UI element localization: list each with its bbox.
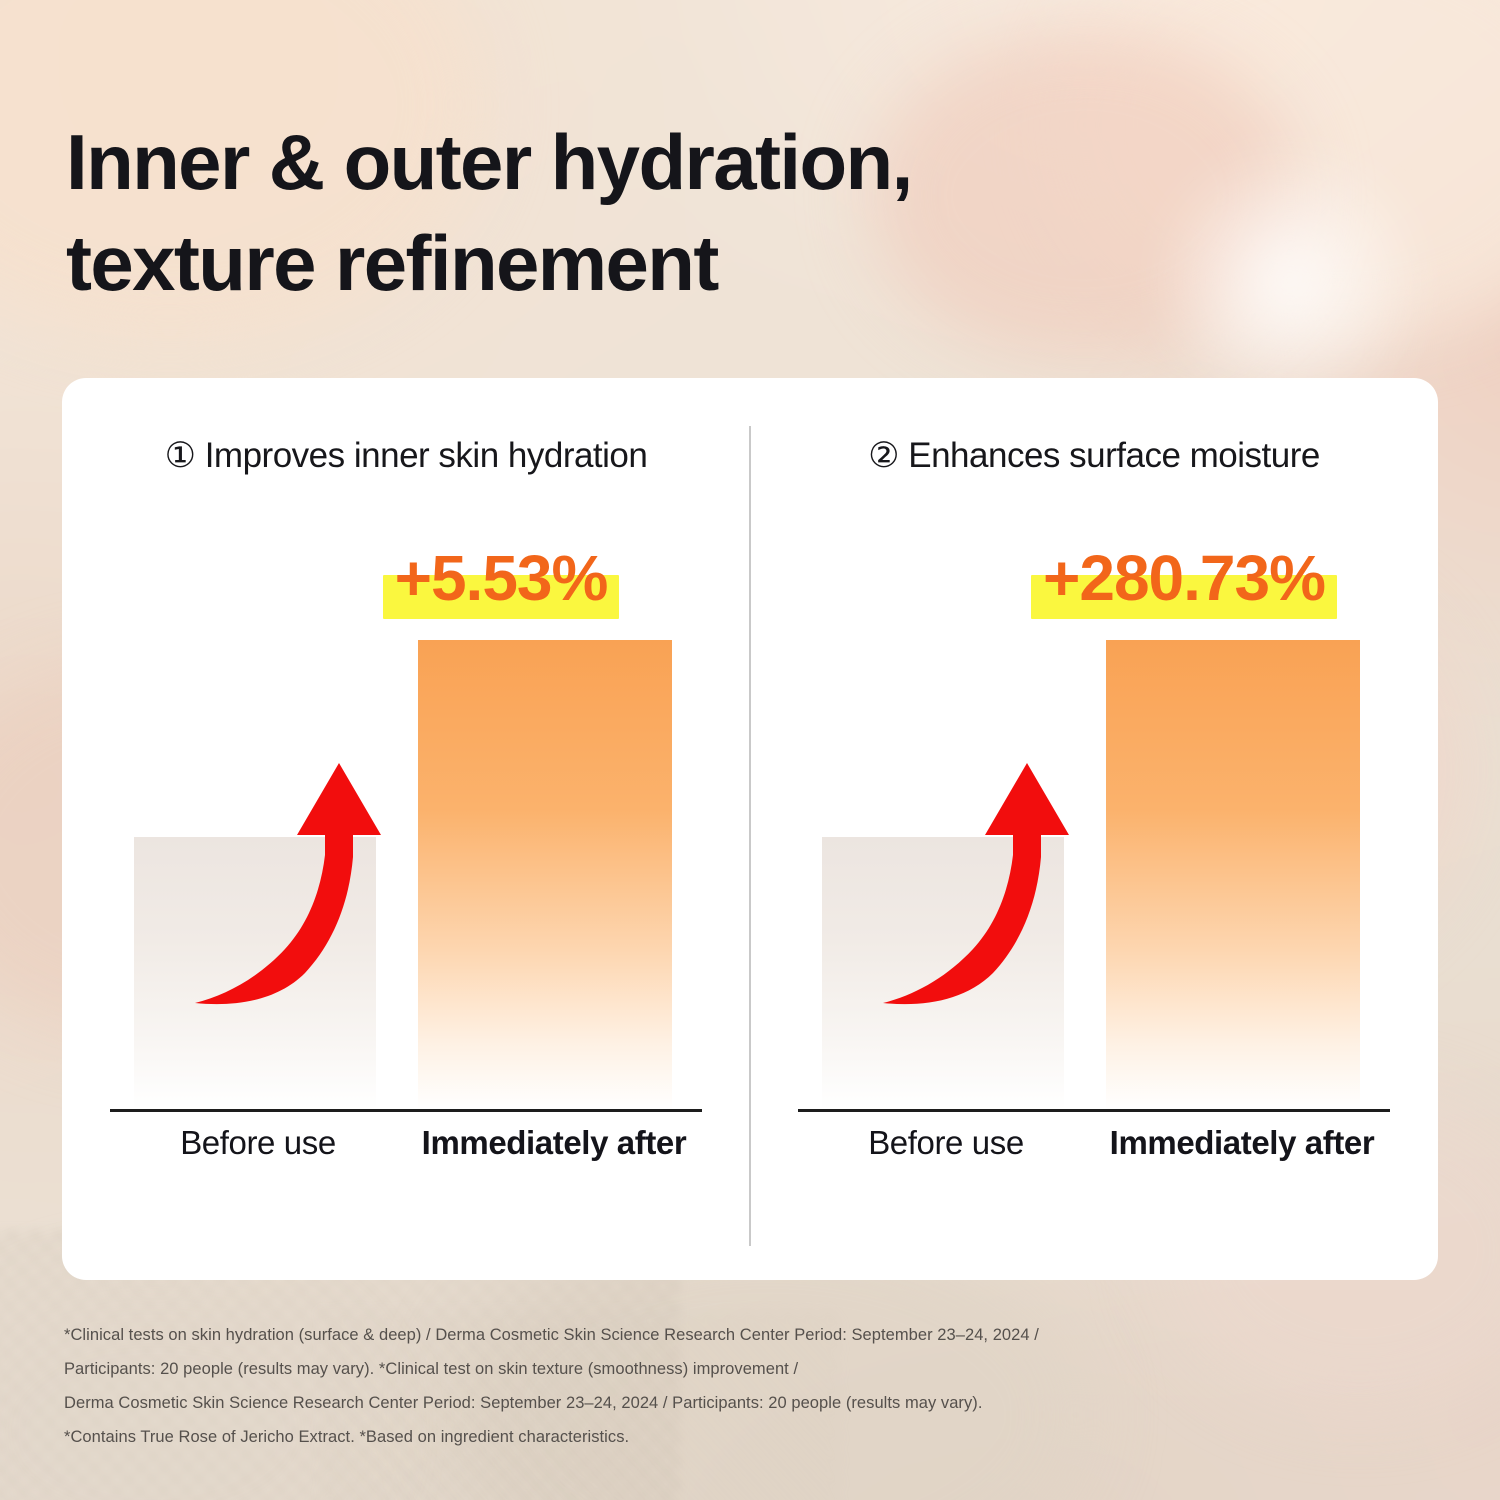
footnote-line: *Contains True Rose of Jericho Extract. … — [64, 1420, 1184, 1454]
bar-immediately-after — [418, 640, 673, 1110]
panel-1-title: ① Improves inner skin hydration — [62, 436, 750, 476]
panel-2-delta-badge: +280.73% — [1039, 546, 1329, 610]
bar-before-use — [134, 837, 377, 1110]
bar-before-use — [822, 837, 1065, 1110]
panel-inner-hydration: ① Improves inner skin hydration +5.53% — [62, 378, 750, 1280]
footnotes: *Clinical tests on skin hydration (surfa… — [64, 1318, 1184, 1454]
footnote-line: Participants: 20 people (results may var… — [64, 1352, 1184, 1386]
panel-1-delta-badge: +5.53% — [391, 546, 612, 610]
panel-2-plot-area — [798, 640, 1390, 1110]
bar-immediately-after — [1106, 640, 1361, 1110]
axis-label-before-use: Before use — [798, 1124, 1094, 1162]
page-root: Inner & outer hydration, texture refinem… — [0, 0, 1500, 1500]
panel-1-axis-line — [110, 1109, 702, 1112]
panel-2-delta-wrap: +280.73% — [750, 546, 1438, 610]
footnote-line: *Clinical tests on skin hydration (surfa… — [64, 1318, 1184, 1352]
panel-surface-moisture: ② Enhances surface moisture +280.73% — [750, 378, 1438, 1280]
panel-1-plot-area — [110, 640, 702, 1110]
axis-label-before-use: Before use — [110, 1124, 406, 1162]
panel-1-chart: Before use Immediately after — [62, 640, 750, 1150]
panel-container: ① Improves inner skin hydration +5.53% — [62, 378, 1438, 1280]
results-card: ① Improves inner skin hydration +5.53% — [62, 378, 1438, 1280]
panel-divider — [749, 426, 751, 1246]
axis-label-immediately-after: Immediately after — [1094, 1124, 1390, 1162]
panel-1-axis-labels: Before use Immediately after — [110, 1124, 702, 1162]
panel-2-axis-line — [798, 1109, 1390, 1112]
page-title: Inner & outer hydration, texture refinem… — [66, 112, 1126, 315]
panel-1-delta-wrap: +5.53% — [62, 546, 750, 610]
panel-2-chart: Before use Immediately after — [750, 640, 1438, 1150]
panel-2-title: ② Enhances surface moisture — [750, 436, 1438, 476]
footnote-line: Derma Cosmetic Skin Science Research Cen… — [64, 1386, 1184, 1420]
panel-2-axis-labels: Before use Immediately after — [798, 1124, 1390, 1162]
axis-label-immediately-after: Immediately after — [406, 1124, 702, 1162]
panel-2-delta-value: +280.73% — [1043, 542, 1325, 614]
panel-1-delta-value: +5.53% — [395, 542, 608, 614]
